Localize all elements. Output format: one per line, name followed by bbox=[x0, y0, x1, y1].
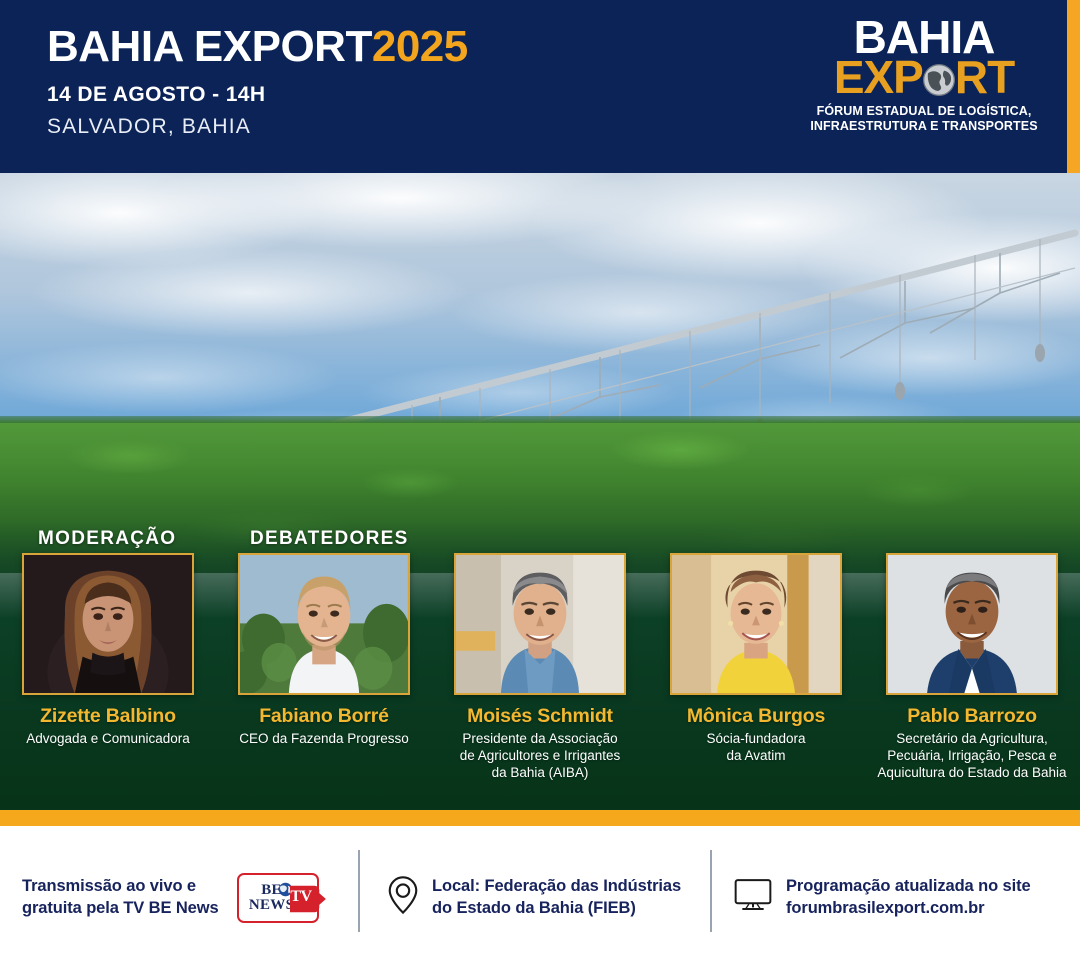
event-title-main: BAHIA EXPORT bbox=[47, 22, 372, 71]
speaker-portrait bbox=[24, 555, 192, 694]
broadcast-text: Transmissão ao vivo e gratuita pela TV B… bbox=[22, 876, 219, 919]
speaker-name: Mônica Burgos bbox=[687, 706, 825, 727]
poster-header: BAHIA EXPORT2025 14 DE AGOSTO - 14H SALV… bbox=[0, 0, 1080, 173]
location-text: Local: Federação das Indústrias do Estad… bbox=[432, 876, 681, 919]
speaker-role: Secretário da Agricultura, Pecuária, Irr… bbox=[877, 731, 1066, 782]
tv-badge-label: TV bbox=[290, 888, 311, 906]
speaker-card: Pablo Barrozo Secretário da Agricultura,… bbox=[864, 553, 1080, 803]
label-debatedores: DEBATEDORES bbox=[250, 528, 409, 550]
label-moderacao: MODERAÇÃO bbox=[38, 528, 176, 550]
speakers-list: Zizette Balbino Advogada e Comunicadora bbox=[0, 553, 1080, 803]
footer-broadcast-section: Transmissão ao vivo e gratuita pela TV B… bbox=[0, 826, 360, 969]
speaker-card: Mônica Burgos Sócia-fundadora da Avatim bbox=[648, 553, 864, 803]
speaker-portrait bbox=[888, 555, 1056, 694]
desktop-monitor-icon bbox=[734, 878, 772, 917]
speaker-card: Zizette Balbino Advogada e Comunicadora bbox=[0, 553, 216, 803]
gold-divider-bar bbox=[0, 810, 1080, 826]
speaker-photo-frame bbox=[22, 553, 194, 695]
speaker-name: Pablo Barrozo bbox=[907, 706, 1037, 727]
event-title: BAHIA EXPORT2025 bbox=[47, 24, 468, 70]
speaker-name: Moisés Schmidt bbox=[467, 706, 613, 727]
speaker-card: Moisés Schmidt Presidente da Associação … bbox=[432, 553, 648, 803]
speaker-name: Fabiano Borré bbox=[259, 706, 389, 727]
map-pin-icon bbox=[388, 875, 418, 920]
event-city: SALVADOR, BAHIA bbox=[47, 115, 468, 138]
speaker-portrait bbox=[672, 555, 840, 694]
speaker-photo-frame bbox=[454, 553, 626, 695]
logo-line-export: EXP RT bbox=[804, 56, 1044, 98]
speaker-card: Fabiano Borré CEO da Fazenda Progresso bbox=[216, 553, 432, 803]
speaker-role: Advogada e Comunicadora bbox=[26, 731, 190, 748]
globe-icon bbox=[922, 63, 956, 97]
be-news-tv-logo: BE NEWS TV bbox=[237, 873, 319, 923]
event-date: 14 DE AGOSTO - 14H bbox=[47, 83, 468, 106]
footer-website-section: Programação atualizada no site forumbras… bbox=[712, 826, 1080, 969]
speaker-photo-frame bbox=[670, 553, 842, 695]
speaker-role: CEO da Fazenda Progresso bbox=[239, 731, 409, 748]
header-text-block: BAHIA EXPORT2025 14 DE AGOSTO - 14H SALV… bbox=[47, 24, 468, 138]
speaker-name: Zizette Balbino bbox=[40, 706, 176, 727]
bahia-export-logo: BAHIA EXP RT FÓRUM ESTADUAL DE LOGÍSTICA… bbox=[804, 16, 1044, 134]
speaker-role: Sócia-fundadora da Avatim bbox=[706, 731, 805, 765]
speaker-portrait bbox=[240, 555, 408, 694]
speaker-photo-frame bbox=[886, 553, 1058, 695]
speaker-portrait bbox=[456, 555, 624, 694]
footer-location-section: Local: Federação das Indústrias do Estad… bbox=[360, 826, 712, 969]
logo-export-suffix: RT bbox=[955, 56, 1014, 98]
website-text: Programação atualizada no site forumbras… bbox=[786, 876, 1031, 919]
speaker-role: Presidente da Associação de Agricultores… bbox=[460, 731, 621, 782]
event-poster: BAHIA EXPORT2025 14 DE AGOSTO - 14H SALV… bbox=[0, 0, 1080, 969]
field-horizon-line bbox=[0, 416, 1080, 423]
event-title-year: 2025 bbox=[372, 22, 468, 71]
logo-export-prefix: EXP bbox=[834, 56, 923, 98]
speaker-photo-frame bbox=[238, 553, 410, 695]
logo-tagline: FÓRUM ESTADUAL DE LOGÍSTICA, INFRAESTRUT… bbox=[804, 104, 1044, 135]
header-accent-stripe bbox=[1067, 0, 1080, 173]
poster-footer: Transmissão ao vivo e gratuita pela TV B… bbox=[0, 826, 1080, 969]
